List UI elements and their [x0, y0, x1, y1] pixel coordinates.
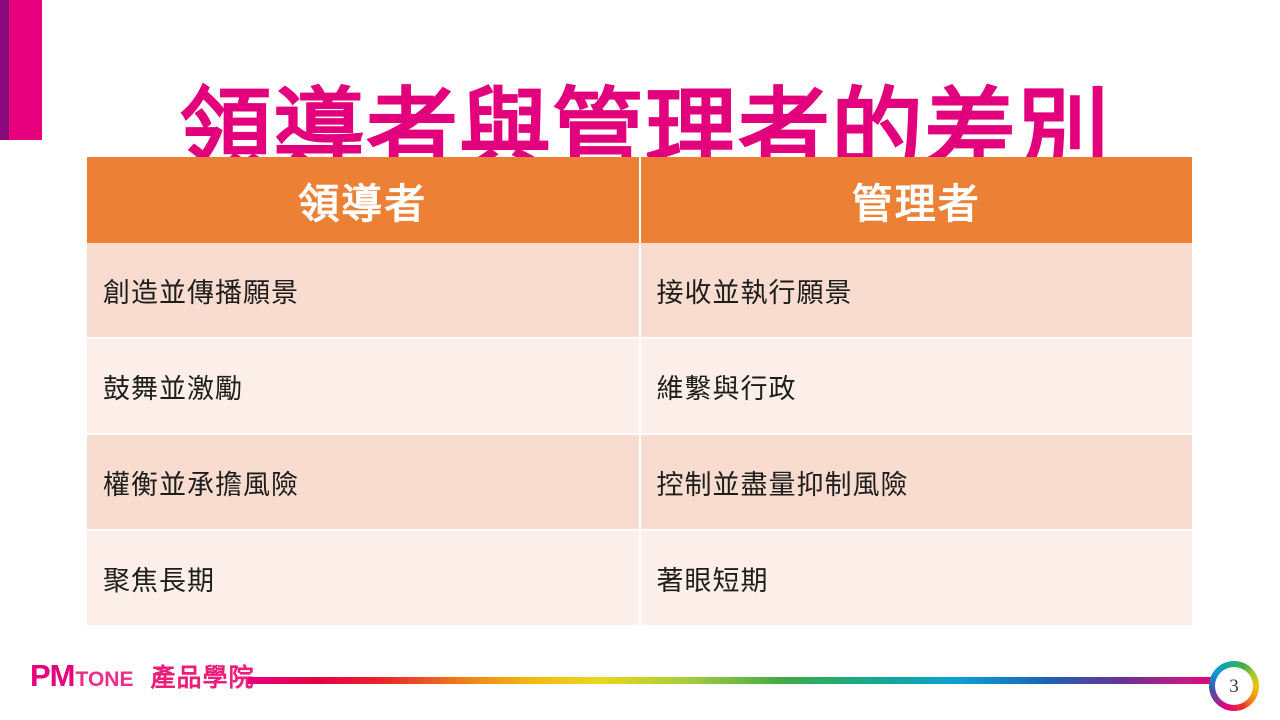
accent-bar-magenta	[9, 0, 42, 140]
table-head: 領導者 管理者	[87, 157, 1192, 243]
left-accent-bars	[0, 0, 42, 140]
table-header-row: 領導者 管理者	[87, 157, 1192, 243]
footer: PM TONE 產品學院	[0, 646, 1280, 720]
slide: 領導者與管理者的差別 領導者 管理者 創造並傳播願景 接收並執行願景 鼓舞並激勵…	[0, 0, 1280, 720]
cell-leader: 聚焦長期	[87, 530, 640, 625]
accent-bar-purple	[0, 0, 9, 140]
rainbow-divider-line	[248, 677, 1222, 684]
column-header-leader: 領導者	[87, 157, 640, 243]
cell-manager: 維繫與行政	[640, 338, 1193, 434]
brand-logo: PM TONE 產品學院	[30, 660, 254, 691]
comparison-table-wrapper: 領導者 管理者 創造並傳播願景 接收並執行願景 鼓舞並激勵 維繫與行政 權衡並承…	[87, 157, 1192, 625]
comparison-table: 領導者 管理者 創造並傳播願景 接收並執行願景 鼓舞並激勵 維繫與行政 權衡並承…	[87, 157, 1192, 625]
logo-pm-text: PM	[30, 660, 75, 691]
logo-chinese-text: 產品學院	[150, 666, 254, 691]
table-body: 創造並傳播願景 接收並執行願景 鼓舞並激勵 維繫與行政 權衡並承擔風險 控制並盡…	[87, 243, 1192, 625]
cell-leader: 權衡並承擔風險	[87, 434, 640, 530]
cell-leader: 鼓舞並激勵	[87, 338, 640, 434]
page-number-badge: 3	[1209, 661, 1259, 711]
table-row: 鼓舞並激勵 維繫與行政	[87, 338, 1192, 434]
table-row: 聚焦長期 著眼短期	[87, 530, 1192, 625]
page-number-value: 3	[1215, 667, 1253, 705]
cell-leader: 創造並傳播願景	[87, 243, 640, 338]
cell-manager: 著眼短期	[640, 530, 1193, 625]
cell-manager: 控制並盡量抑制風險	[640, 434, 1193, 530]
column-header-manager: 管理者	[640, 157, 1193, 243]
table-row: 創造並傳播願景 接收並執行願景	[87, 243, 1192, 338]
cell-manager: 接收並執行願景	[640, 243, 1193, 338]
table-row: 權衡並承擔風險 控制並盡量抑制風險	[87, 434, 1192, 530]
logo-tone-text: TONE	[76, 669, 134, 690]
